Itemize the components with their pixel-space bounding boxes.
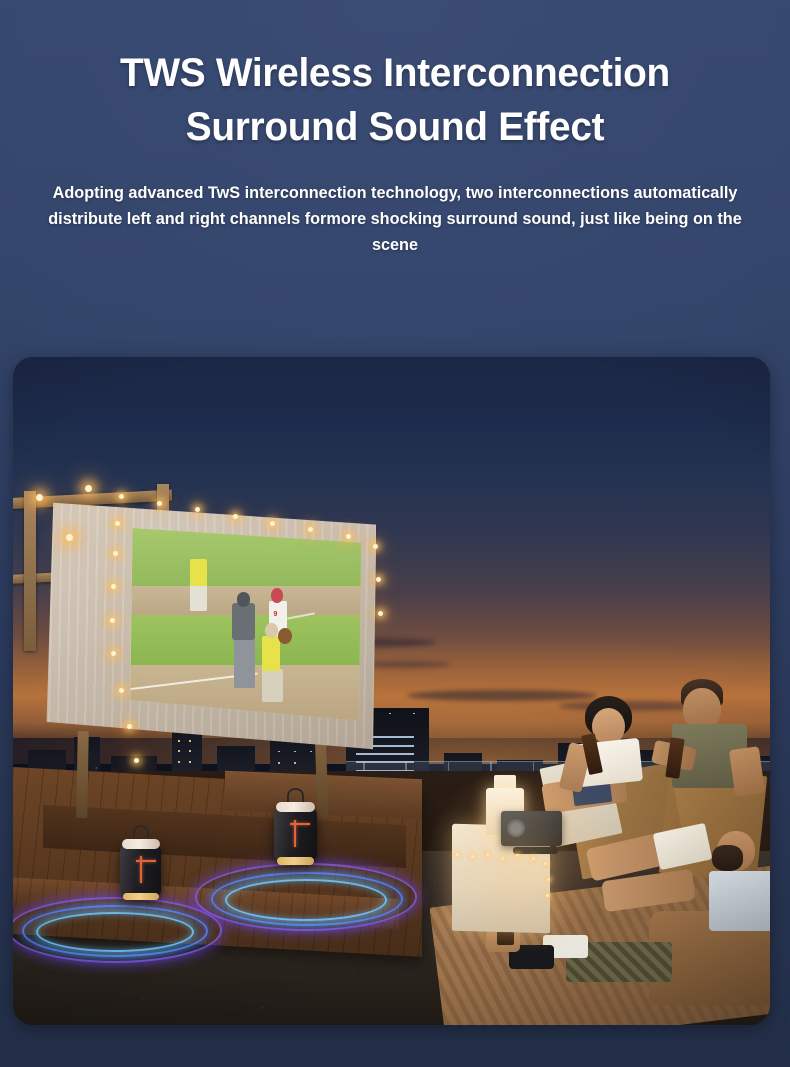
catcher-body	[262, 636, 280, 671]
headline-line-1: TWS Wireless Interconnection	[39, 46, 751, 100]
speaker-top-rim	[276, 802, 315, 812]
screen-support-post	[77, 731, 90, 818]
page-subtitle: Adopting advanced TwS interconnection te…	[43, 180, 746, 258]
bluetooth-speaker-right	[274, 805, 316, 864]
string-light-bulb	[113, 551, 118, 556]
volume-down-icon	[294, 834, 296, 847]
speaker-bottom-rim	[277, 857, 314, 865]
rooftop-scene-illustration: 9	[13, 357, 770, 1025]
man-lying-beard	[712, 845, 744, 872]
string-light-bulb	[115, 521, 120, 526]
string-light-bulb	[378, 611, 383, 616]
string-light-bulb	[119, 494, 124, 499]
fielder-legs	[190, 584, 206, 611]
fairy-light	[532, 857, 535, 860]
batter-jersey-number: 9	[273, 611, 277, 618]
string-light-bulb	[195, 507, 200, 512]
string-light-bulb	[36, 494, 43, 501]
fielder-body	[190, 559, 206, 586]
umpire-body	[232, 603, 255, 640]
volume-up-icon	[294, 820, 296, 835]
string-light-bulb	[233, 514, 238, 519]
catcher-legs	[262, 669, 283, 702]
volume-up-icon	[140, 856, 142, 871]
fairy-light	[501, 857, 504, 860]
volume-up-icon	[136, 860, 156, 862]
fairy-light	[486, 853, 489, 856]
cloud	[407, 690, 597, 701]
volume-up-icon	[290, 823, 310, 825]
catcher-head	[265, 623, 278, 637]
page-title: TWS Wireless Interconnection Surround So…	[12, 46, 778, 154]
umpire-head	[237, 592, 251, 606]
remote-control	[513, 847, 558, 854]
batter-helmet	[271, 588, 283, 602]
speaker-top-rim	[122, 839, 160, 849]
projected-baseball-image: 9	[130, 524, 361, 731]
string-light-bulb	[134, 758, 139, 763]
man-lying-shirt	[709, 871, 770, 931]
headline-line-2: Surround Sound Effect	[39, 100, 751, 154]
volume-down-icon	[140, 870, 142, 883]
string-light-bulb	[66, 534, 73, 541]
fairy-light	[456, 853, 459, 856]
string-light-bulb	[373, 544, 378, 549]
header-section: TWS Wireless Interconnection Surround So…	[0, 0, 790, 258]
projector-lens	[507, 819, 525, 836]
umpire-legs	[234, 638, 255, 688]
bluetooth-speaker-left	[120, 841, 161, 898]
string-light-bulb	[110, 618, 115, 623]
pergola-post	[24, 491, 35, 651]
string-light-bulb	[119, 688, 124, 693]
speaker-bottom-rim	[123, 893, 159, 900]
string-light-bulb	[157, 501, 162, 506]
catchers-mitt	[278, 628, 292, 645]
hero-photo: 9	[13, 357, 770, 1025]
cloud	[361, 661, 451, 668]
fairy-light	[546, 894, 549, 897]
